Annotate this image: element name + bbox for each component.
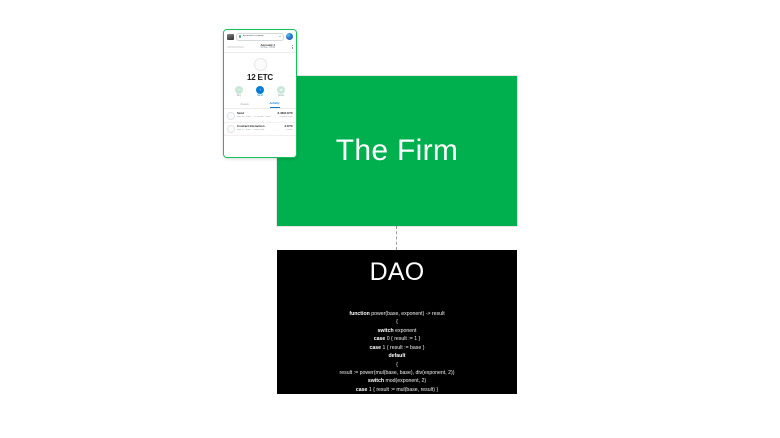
wallet-action-swap[interactable]: ⇄Swap <box>274 86 288 98</box>
connector-dashed-line <box>396 226 397 250</box>
account-address: 0x7Ea...8F9d <box>244 47 292 50</box>
wallet-action-buy[interactable]: +Buy <box>232 86 246 98</box>
dao-code-line: switch exponent <box>283 327 511 335</box>
dao-code-keyword: case <box>370 345 383 351</box>
account-placeholder-bar <box>227 46 244 48</box>
transaction-details: SendMar 24, 2022 · To: 0x4e2...8c4b <box>237 112 275 118</box>
wallet-app: Ethereum Classic Account 1 0x7Ea...8F9d … <box>224 30 296 157</box>
metamask-fox-icon <box>227 34 234 40</box>
wallet-tabs: AssetsActivity <box>224 98 296 109</box>
dao-title: DAO <box>277 260 517 285</box>
wallet-actions: +Buy↑Send⇄Swap <box>224 82 296 98</box>
dao-code-keyword: case <box>356 387 369 393</box>
network-label: Ethereum Classic <box>243 35 278 38</box>
send-icon: ↑ <box>256 86 264 94</box>
transaction-type-icon <box>227 125 235 133</box>
wallet-top-bar: Ethereum Classic <box>224 30 296 43</box>
transaction-amounts: -0 ETC-0 USD <box>284 125 293 131</box>
buy-icon: + <box>235 86 243 94</box>
dao-code-line: case 1 { result := base } <box>283 344 511 352</box>
dao-open-brace: { <box>277 285 517 303</box>
the-firm-title: The Firm <box>336 136 458 166</box>
tab-assets[interactable]: Assets <box>240 103 248 108</box>
dao-code-line: { <box>283 318 511 326</box>
dao-code-keyword: switch <box>378 328 396 334</box>
dao-code-text: 1 { result := mul(base, result) } <box>369 387 438 393</box>
dao-panel: DAO { function power(base, exponent) -> … <box>277 250 517 394</box>
transaction-fiat-value: -0.0000 USD <box>277 116 293 119</box>
transaction-details: Contract InteractionMar 17, 2022 · Confi… <box>237 125 282 131</box>
transaction-row[interactable]: Contract InteractionMar 17, 2022 · Confi… <box>224 123 296 136</box>
transaction-amounts: -0.4604 ETC-0.0000 USD <box>277 112 293 118</box>
network-selector[interactable]: Ethereum Classic <box>236 33 284 41</box>
dao-code-text: exponent <box>395 328 416 334</box>
dao-code-text: 0 { result := 1 } <box>387 336 421 342</box>
dao-code-text: { <box>396 362 398 368</box>
account-details[interactable]: Account 1 0x7Ea...8F9d <box>244 44 292 50</box>
dao-code-line: case 0 { result := 1 } <box>283 335 511 343</box>
dao-code-keyword: case <box>374 336 387 342</box>
dao-code-keyword: default <box>388 353 405 359</box>
network-status-dot <box>239 35 241 37</box>
dao-code-keyword: function <box>349 311 371 317</box>
transaction-fiat-value: -0 USD <box>284 129 293 132</box>
dao-code-text: { <box>396 319 398 325</box>
balance-block: 12 ETC <box>224 53 296 82</box>
chevron-down-icon <box>279 36 281 37</box>
account-avatar[interactable] <box>286 33 293 40</box>
wallet-action-send[interactable]: ↑Send <box>253 86 267 98</box>
wallet-phone-mockup: Ethereum Classic Account 1 0x7Ea...8F9d … <box>223 29 297 158</box>
dao-code-line: { <box>283 361 511 369</box>
tab-activity[interactable]: Activity <box>270 102 280 108</box>
dao-code-text: result := power(mul(base, base), div(exp… <box>340 370 455 376</box>
swap-icon: ⇄ <box>277 86 285 94</box>
transaction-subtitle: Mar 24, 2022 · To: 0x4e2...8c4b <box>237 116 275 119</box>
dao-code-line: function power(base, exponent) -> result <box>283 310 511 318</box>
dao-code-block: function power(base, exponent) -> result… <box>277 310 517 394</box>
transaction-type-icon <box>227 112 235 120</box>
slide-canvas: The Firm DAO { function power(base, expo… <box>0 0 780 438</box>
dao-code-text: mod(exponent, 2) <box>385 378 426 384</box>
balance-amount: 12 ETC <box>224 74 296 82</box>
account-options-icon[interactable] <box>292 45 294 49</box>
token-icon <box>254 58 267 71</box>
dao-code-line: case 1 { result := mul(base, result) } <box>283 386 511 394</box>
dao-code-text: power(base, exponent) -> result <box>371 311 444 317</box>
dao-code-text: 1 { result := base } <box>383 345 425 351</box>
transaction-list: SendMar 24, 2022 · To: 0x4e2...8c4b-0.46… <box>224 109 296 157</box>
dao-code-line: default <box>283 352 511 360</box>
transaction-row[interactable]: SendMar 24, 2022 · To: 0x4e2...8c4b-0.46… <box>224 110 296 123</box>
dao-code-keyword: switch <box>368 378 386 384</box>
transaction-subtitle: Mar 17, 2022 · Confirmed <box>237 129 282 132</box>
dao-code-line: result := power(mul(base, base), div(exp… <box>283 369 511 377</box>
the-firm-panel: The Firm <box>277 76 517 226</box>
dao-code-line: switch mod(exponent, 2) <box>283 377 511 385</box>
account-row: Account 1 0x7Ea...8F9d <box>224 43 296 54</box>
